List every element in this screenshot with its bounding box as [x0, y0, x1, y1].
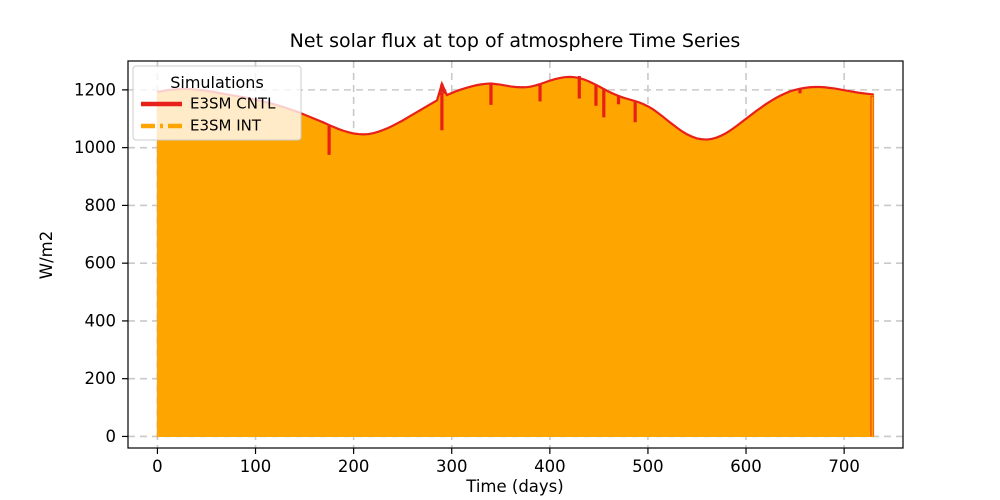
y-tick-label-6: 1200 — [74, 80, 116, 99]
y-tick-label-2: 400 — [85, 311, 117, 330]
spike-down-6 — [602, 90, 605, 118]
y-tick-label-1: 200 — [85, 369, 117, 388]
x-axis-label: Time (days) — [465, 477, 563, 496]
legend[interactable]: Simulations E3SM CNTLE3SM INT — [133, 66, 301, 140]
spike-down-2 — [489, 84, 492, 105]
x-tick-label-7: 700 — [828, 457, 860, 476]
y-axis-label: W/m2 — [37, 231, 56, 279]
series-end-edge-int — [871, 97, 873, 437]
x-tick-label-5: 500 — [632, 457, 664, 476]
x-tick-label-0: 0 — [152, 457, 163, 476]
spike-down-8 — [634, 101, 637, 122]
legend-title: Simulations — [170, 73, 264, 92]
y-tick-label-0: 0 — [106, 427, 117, 446]
y-tick-label-4: 800 — [85, 196, 117, 215]
y-tick-label-3: 600 — [85, 254, 117, 273]
x-tick-label-1: 100 — [240, 457, 272, 476]
spike-down-7 — [617, 97, 620, 105]
spike-down-0 — [328, 126, 331, 155]
page-title: Net solar flux at top of atmosphere Time… — [290, 30, 741, 52]
x-tick-label-6: 600 — [730, 457, 762, 476]
spike-down-3 — [538, 85, 541, 102]
chart-figure: Net solar flux at top of atmosphere Time… — [0, 0, 1000, 500]
y-tick-label-5: 1000 — [74, 138, 116, 157]
x-tick-label-3: 300 — [436, 457, 468, 476]
spike-down-5 — [594, 84, 597, 105]
legend-label-1: E3SM INT — [190, 117, 262, 135]
spike-down-4 — [578, 79, 581, 99]
spike-down-1 — [440, 93, 443, 131]
time-series-chart: Net solar flux at top of atmosphere Time… — [0, 0, 1000, 500]
x-tick-label-2: 200 — [338, 457, 370, 476]
legend-label-0: E3SM CNTL — [190, 95, 276, 113]
x-tick-label-4: 400 — [534, 457, 566, 476]
